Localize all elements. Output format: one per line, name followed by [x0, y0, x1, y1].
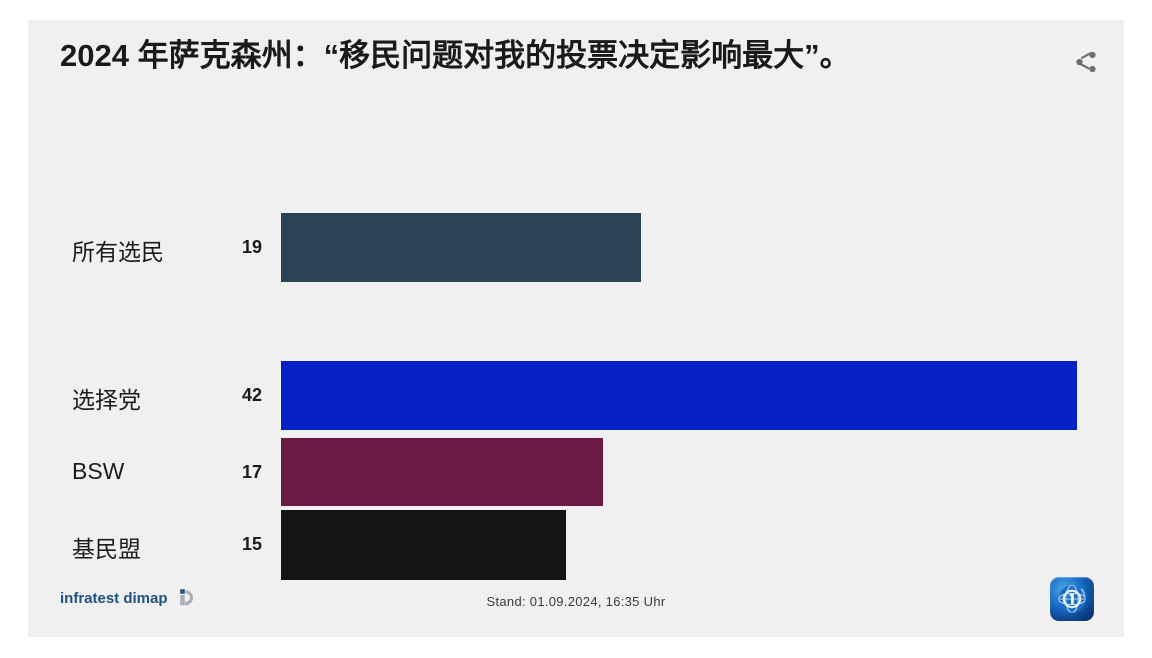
bar-label: 所有选民 [72, 233, 222, 267]
bar-bsw [281, 438, 603, 506]
bar-row: 所有选民 19 [28, 213, 1124, 282]
bar-value: 17 [214, 462, 262, 483]
bar-label: 基民盟 [72, 530, 222, 564]
chart-header: 2024 年萨克森州：“移民问题对我的投票决定影响最大”。 [28, 20, 1124, 98]
share-icon [1073, 49, 1099, 75]
ard-das-erste-globe-icon[interactable] [1050, 577, 1094, 621]
bar-row: 选择党 42 [28, 361, 1124, 430]
bar-afd [281, 361, 1077, 430]
share-button[interactable] [1066, 42, 1106, 82]
bar-value: 15 [214, 534, 262, 555]
bar-value: 19 [214, 237, 262, 258]
bar-label: BSW [72, 458, 222, 485]
bar-row: BSW 17 [28, 438, 1124, 506]
page-title: 2024 年萨克森州：“移民问题对我的投票决定影响最大”。 [60, 34, 1020, 78]
bar-label: 选择党 [72, 381, 222, 415]
timestamp-label: Stand: 01.09.2024, 16:35 Uhr [28, 594, 1124, 609]
bar-value: 42 [214, 385, 262, 406]
infographic-card: 2024 年萨克森州：“移民问题对我的投票决定影响最大”。 [28, 20, 1124, 637]
bar-chart: 所有选民 19 选择党 42 BSW 17 基民盟 15 [28, 98, 1124, 568]
bar-all-voters [281, 213, 641, 282]
chart-footer: infratest dimap Stand: 01.09.2024, 16:35… [28, 567, 1124, 637]
